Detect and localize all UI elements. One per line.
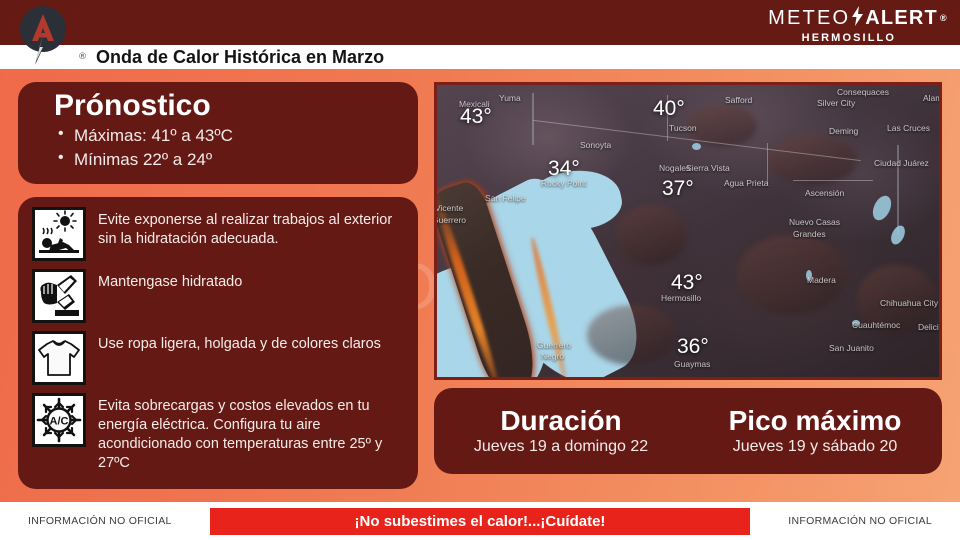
- list-item: Evite exponerse al realizar trabajos al …: [18, 207, 418, 261]
- map-city-label: Ascensión: [805, 188, 844, 198]
- map-city-label: Ciudad Juárez: [874, 158, 929, 168]
- svg-text:A/C: A/C: [50, 416, 69, 428]
- map-city-label: Nogales: [659, 163, 690, 173]
- heat-exhaustion-icon: [32, 207, 86, 261]
- forecast-panel: Prónostico Máximas: 41º a 43ºC Mínimas 2…: [18, 82, 418, 184]
- list-item-label: Evita sobrecargas y costos elevados en t…: [98, 393, 398, 472]
- map-city-label: Madera: [807, 275, 836, 285]
- map-temperature-label: 37°: [662, 177, 694, 201]
- forecast-item: Máximas: 41º a 43ºC: [58, 124, 418, 148]
- map-city-label: Sierra Vista: [686, 163, 730, 173]
- map-temperature-label: 36°: [677, 335, 709, 359]
- map-canvas: MexicaliYumaTucsonSaffordSilver CityAlam…: [437, 85, 939, 377]
- map-temperature-label: 43°: [671, 271, 703, 295]
- map-city-label: Alamogordo: [923, 93, 942, 103]
- duration-title: Duración: [500, 406, 621, 435]
- map-city-label: Yuma: [499, 93, 521, 103]
- brand-city-text: HERMOSILLO: [768, 33, 896, 44]
- terrain-feature: [617, 205, 687, 265]
- page-subtitle: Onda de Calor Histórica en Marzo: [96, 47, 384, 68]
- map-temperature-label: 40°: [653, 97, 685, 121]
- footer-right-note: INFORMACIÓN NO OFICIAL: [788, 515, 932, 527]
- infographic-root: METEOALERT Aviso de Calor Extremo en Her…: [0, 0, 960, 540]
- map-city-label: Vicente: [435, 203, 463, 213]
- air-conditioning-icon: A/C: [32, 393, 86, 447]
- map-temperature-label: 43°: [460, 105, 492, 129]
- terrain-feature: [767, 135, 857, 185]
- map-city-label: Ciudad: [701, 375, 728, 380]
- list-item: A/C Evita sobrecargas y costos elevados …: [18, 393, 418, 472]
- duration-value: Jueves 19 a domingo 22: [474, 437, 648, 456]
- peak-title: Pico máximo: [729, 406, 902, 435]
- list-item-label: Evite exponerse al realizar trabajos al …: [98, 207, 398, 249]
- list-item-label: Use ropa ligera, holgada y de colores cl…: [98, 331, 381, 354]
- temperature-map[interactable]: MexicaliYumaTucsonSaffordSilver CityAlam…: [434, 82, 942, 380]
- map-city-label: Agua Prieta: [724, 178, 768, 188]
- map-city-label: Chihuahua City: [880, 298, 938, 308]
- map-city-label: Tucson: [669, 123, 697, 133]
- state-border: [793, 180, 873, 181]
- drink-water-icon: [32, 269, 86, 323]
- map-city-label: Cuauhtémoc: [852, 320, 900, 330]
- forecast-item: Mínimas 22º a 24º: [58, 148, 418, 172]
- map-city-label: San Felipe: [485, 193, 526, 203]
- forecast-list: Máximas: 41º a 43ºC Mínimas 22º a 24º: [18, 124, 418, 172]
- peak-value: Jueves 19 y sábado 20: [733, 437, 898, 456]
- lake: [692, 143, 701, 150]
- light-clothing-tshirt-icon: [32, 331, 86, 385]
- map-city-label: Consequaces: [837, 87, 889, 97]
- map-city-label: Silver City: [817, 98, 855, 108]
- peak-column: Pico máximo Jueves 19 y sábado 20: [688, 388, 942, 474]
- map-city-label: Guerrero: [434, 215, 466, 225]
- duration-panel: Duración Jueves 19 a domingo 22 Pico máx…: [434, 388, 942, 474]
- map-city-label: Las Cruces: [887, 123, 930, 133]
- list-item-label: Mantengase hidratado: [98, 269, 242, 292]
- registered-mark-icon: ®: [78, 52, 87, 62]
- footer-banner: ¡No subestimes el calor!...¡Cuídate!: [210, 508, 750, 535]
- terrain-feature: [587, 305, 677, 365]
- list-item: Mantengase hidratado: [18, 269, 418, 323]
- map-city-label: Negro: [541, 351, 564, 361]
- list-item: Use ropa ligera, holgada y de colores cl…: [18, 331, 418, 385]
- map-city-label: Nuevo Casas: [789, 217, 840, 227]
- map-city-label: Grandes: [793, 229, 826, 239]
- map-temperature-label: 34°: [548, 157, 580, 181]
- map-city-label: Guerrero: [537, 340, 571, 350]
- brand-alert-text: ALERT: [865, 8, 938, 28]
- recommendations-panel: Evite exponerse al realizar trabajos al …: [18, 197, 418, 489]
- footer: INFORMACIÓN NO OFICIAL ¡No subestimes el…: [0, 502, 960, 540]
- lightning-bolt-icon: [851, 6, 864, 30]
- subtitle-row: ® Onda de Calor Histórica en Marzo: [0, 45, 960, 69]
- map-city-label: Sonoyta: [580, 140, 611, 150]
- brand-wordmark: METEO ALERT ® HERMOSILLO: [768, 6, 948, 44]
- river: [532, 93, 534, 145]
- map-city-label: Guaymas: [674, 359, 710, 369]
- forecast-title: Prónostico: [54, 90, 418, 122]
- map-city-label: Safford: [725, 95, 752, 105]
- footer-left-note: INFORMACIÓN NO OFICIAL: [28, 515, 172, 527]
- map-city-label: Delicias: [918, 322, 942, 332]
- duration-column: Duración Jueves 19 a domingo 22: [434, 388, 688, 474]
- brand-meteo-text: METEO: [768, 8, 850, 28]
- meteoalert-logo-icon: [13, 3, 73, 65]
- brand-registered-icon: ®: [940, 14, 948, 23]
- map-city-label: San Juanito: [829, 343, 874, 353]
- map-city-label: Deming: [829, 126, 858, 136]
